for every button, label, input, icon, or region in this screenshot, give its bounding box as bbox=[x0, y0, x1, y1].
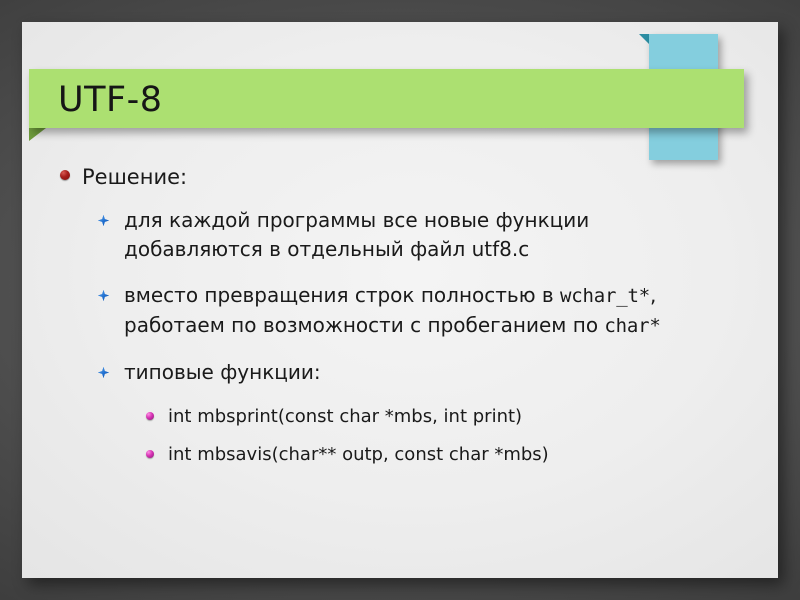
title-banner-fold-decoration bbox=[29, 128, 46, 141]
text-segment: , bbox=[650, 283, 656, 307]
slide-canvas: UTF-8 Решение: для каждой программы все … bbox=[22, 22, 778, 578]
bullet-level3: int mbsprint(const char *mbs, int print) bbox=[146, 404, 760, 430]
magenta-sphere-bullet-icon bbox=[146, 404, 168, 420]
bullet-level2-text: для каждой программы все новые функции д… bbox=[124, 206, 589, 264]
bullet-level3-text: int mbsavis(char** outp, const char *mbs… bbox=[168, 442, 549, 468]
code-segment: char* bbox=[604, 315, 660, 337]
slide-body: Решение: для каждой программы все новые … bbox=[60, 162, 760, 480]
bullet-level1-text: Решение: bbox=[82, 162, 187, 192]
blue-star-bullet-icon bbox=[98, 281, 124, 301]
code-segment: wchar_t* bbox=[560, 285, 650, 307]
red-sphere-bullet-icon bbox=[60, 162, 82, 180]
bullet-level2-text: типовые функции: bbox=[124, 358, 321, 387]
bullet-line: добавляются в отдельный файл utf8.c bbox=[124, 237, 529, 261]
slide-title: UTF-8 bbox=[58, 72, 163, 128]
bullet-level2: типовые функции: bbox=[98, 358, 760, 387]
blue-star-bullet-icon bbox=[98, 358, 124, 378]
text-segment: вместо превращения строк полностью в bbox=[124, 283, 560, 307]
text-segment: работаем по возможности с пробеганием по bbox=[124, 313, 604, 337]
bullet-level2-text: вместо превращения строк полностью в wch… bbox=[124, 281, 661, 341]
accent-bar-fold-decoration bbox=[639, 34, 649, 44]
magenta-sphere-bullet-icon bbox=[146, 442, 168, 458]
bullet-level1: Решение: bbox=[60, 162, 760, 192]
bullet-line: работаем по возможности с пробеганием по… bbox=[124, 313, 661, 337]
bullet-line: для каждой программы все новые функции bbox=[124, 208, 589, 232]
bullet-level2: для каждой программы все новые функции д… bbox=[98, 206, 760, 264]
bullet-level3: int mbsavis(char** outp, const char *mbs… bbox=[146, 442, 760, 468]
bullet-level3-text: int mbsprint(const char *mbs, int print) bbox=[168, 404, 522, 430]
bullet-line: вместо превращения строк полностью в wch… bbox=[124, 283, 656, 307]
blue-star-bullet-icon bbox=[98, 206, 124, 226]
slide-viewer: UTF-8 Решение: для каждой программы все … bbox=[0, 0, 800, 600]
bullet-level2: вместо превращения строк полностью в wch… bbox=[98, 281, 760, 341]
